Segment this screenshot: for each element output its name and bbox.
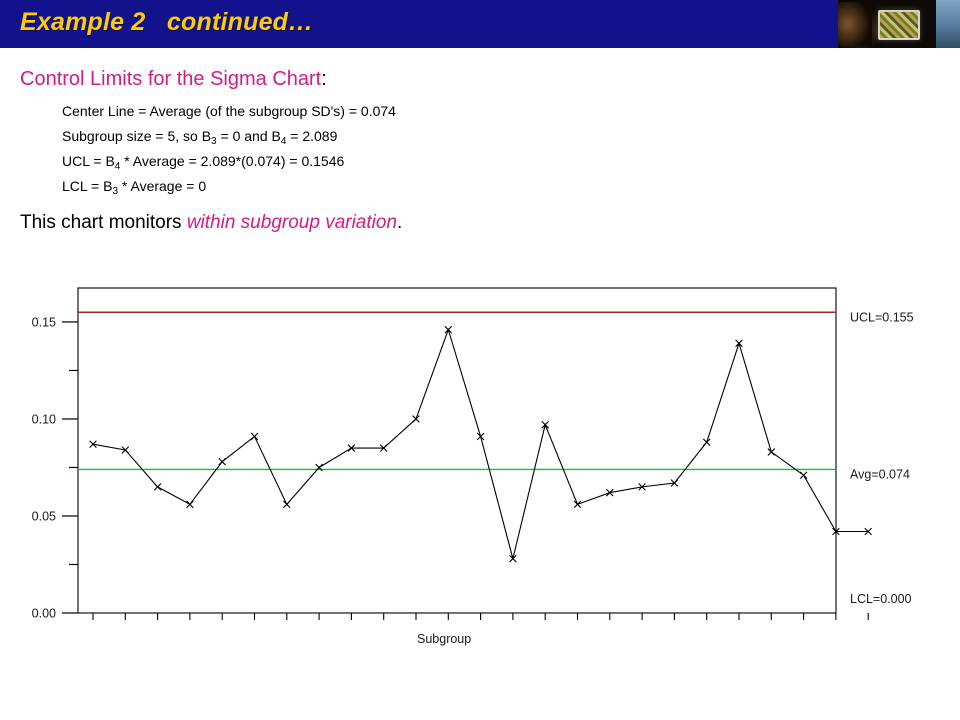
plot-frame <box>78 288 836 613</box>
ucl-sub-b4: 4 <box>115 161 121 172</box>
photo-inset-screen <box>878 10 920 40</box>
bullet-ucl-formula: UCL = B4 * Average = 2.089*(0.074) = 0.1… <box>62 153 344 169</box>
y-tick-label-0: 0.00 <box>32 607 56 621</box>
monitor-statement: This chart monitors within subgroup vari… <box>20 212 402 234</box>
annotation-ucl: UCL=0.155 <box>850 310 914 324</box>
bullet-lcl-formula: LCL = B3 * Average = 0 <box>62 178 206 194</box>
y-tick-label-1: 0.05 <box>32 509 56 523</box>
section-heading-text: Control Limits for the Sigma Chart <box>20 68 321 90</box>
y-tick-label-3: 0.15 <box>32 315 56 329</box>
subsize-part-a: Subgroup size = 5, so B <box>62 128 211 144</box>
bullet-center-line: Center Line = Average (of the subgroup S… <box>62 103 396 119</box>
lcl-sub-b3: 3 <box>112 186 118 197</box>
lcl-part-a: LCL = B <box>62 178 112 194</box>
subsize-part-e: = 2.089 <box>286 128 337 144</box>
annotation-avg: Avg=0.074 <box>850 467 910 481</box>
bullet-subgroup-size: Subgroup size = 5, so B3 = 0 and B4 = 2.… <box>62 128 337 144</box>
ucl-part-c: * Average = 2.089*(0.074) = 0.1546 <box>120 153 344 169</box>
subsize-sub-b4: 4 <box>281 136 287 147</box>
section-heading-colon: : <box>321 68 327 90</box>
page-title: Example 2 continued… <box>20 8 313 37</box>
lcl-part-c: * Average = 0 <box>118 178 206 194</box>
monitor-suffix: . <box>397 212 402 233</box>
bullet-center-line-text: Center Line = Average (of the subgroup S… <box>62 103 396 119</box>
y-tick-label-2: 0.10 <box>32 412 56 426</box>
monitor-prefix: This chart monitors <box>20 212 187 233</box>
decorative-photo <box>838 0 960 48</box>
sigma-control-chart: 0.000.050.100.15UCL=0.155Avg=0.074LCL=0.… <box>0 270 960 670</box>
x-axis-title: Subgroup <box>417 632 471 646</box>
ucl-part-a: UCL = B <box>62 153 115 169</box>
subsize-sub-b3: 3 <box>211 136 217 147</box>
subsize-part-c: = 0 and B <box>217 128 281 144</box>
photo-right-panel <box>936 0 960 48</box>
chart-svg: 0.000.050.100.15UCL=0.155Avg=0.074LCL=0.… <box>0 270 960 670</box>
slide-title-bar: Example 2 continued… <box>0 0 960 48</box>
annotation-lcl: LCL=0.000 <box>850 592 912 606</box>
monitor-emphasis: within subgroup variation <box>187 212 397 233</box>
section-heading: Control Limits for the Sigma Chart: <box>20 68 327 91</box>
photo-hand-region <box>838 2 872 46</box>
